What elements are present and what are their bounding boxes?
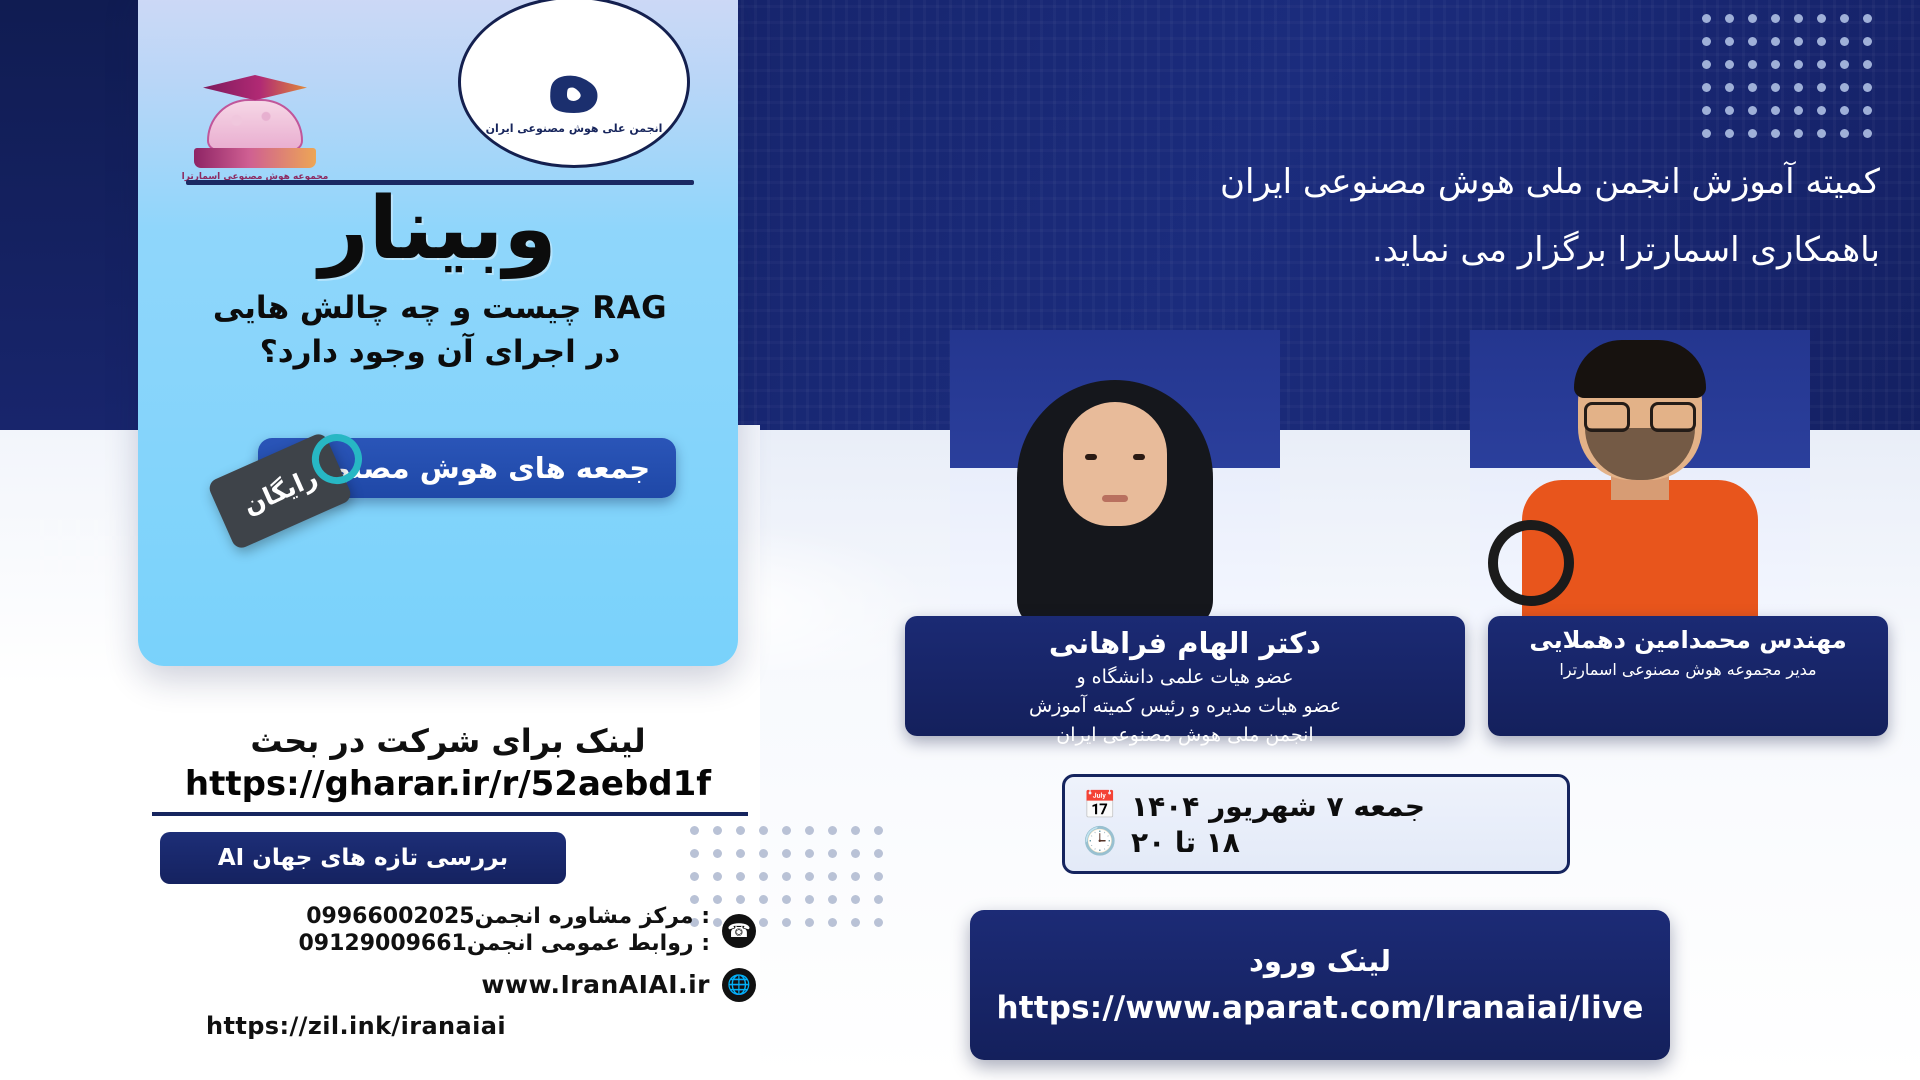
event-date: جمعه ۷ شهریور ۱۴۰۴: [1131, 790, 1425, 823]
globe-icon: 🌐: [722, 968, 756, 1002]
speaker-face-man: [1470, 330, 1810, 630]
contact-divider: [152, 812, 748, 816]
association-logo-caption: انجمن علی هوش مصنوعی ایران: [486, 122, 663, 136]
speaker-photo-elham-farahani: [950, 330, 1280, 630]
entry-link-title: لینک ورود: [1249, 944, 1391, 978]
speaker-card-2: مهندس محمدامین دهملایی مدیر مجموعه هوش م…: [1488, 616, 1888, 736]
organizer-header-line-2: باهمکاری اسمارترا برگزار می نماید.: [800, 216, 1880, 284]
webinar-poster: ه انجمن علی هوش مصنوعی ایران مجموعه هوش …: [0, 0, 1920, 1080]
face-shape: [1063, 402, 1167, 526]
eye-left: [1085, 454, 1097, 460]
beard-shape: [1585, 428, 1695, 480]
discussion-link-title: لینک برای شرکت در بحث: [148, 722, 748, 760]
datetime-box: جمعه ۷ شهریور ۱۴۰۴ 📅 ۱۸ تا ۲۰ 🕒: [1062, 774, 1570, 874]
contact-phone-row: ☎ : مرکز مشاوره انجمن09966002025 : روابط…: [156, 904, 756, 958]
mouth: [1102, 495, 1128, 502]
speaker-1-role-line-3: انجمن ملی هوش مصنوعی ایران: [919, 723, 1451, 748]
clock-icon: 🕒: [1083, 825, 1117, 859]
contact-website-row: 🌐 www.IranAIAI.ir: [156, 968, 756, 1002]
logo-row: ه انجمن علی هوش مصنوعی ایران مجموعه هوش …: [138, 0, 738, 182]
brain-icon: [207, 99, 303, 151]
speaker-1-role-line-1: عضو هیات علمی دانشگاه و: [919, 665, 1451, 690]
time-row: ۱۸ تا ۲۰ 🕒: [1083, 825, 1549, 859]
date-row: جمعه ۷ شهریور ۱۴۰۴ 📅: [1083, 789, 1549, 823]
left-dark-bar: [0, 0, 138, 430]
free-price-tag: رایگان: [206, 431, 353, 551]
phone-icon: ☎: [722, 914, 756, 948]
speaker-1-name: دکتر الهام فراهانی: [919, 626, 1451, 661]
contact-zil-link[interactable]: https://zil.ink/iranaiai: [206, 1012, 756, 1040]
contact-block: ☎ : مرکز مشاوره انجمن09966002025 : روابط…: [156, 904, 756, 1040]
speaker-photo-mohammadamin-dehmolaei: [1470, 330, 1810, 630]
speaker-2-role-line-1: مدیر مجموعه هوش مصنوعی اسمارترا: [1502, 659, 1874, 680]
calendar-icon: 📅: [1083, 789, 1117, 823]
eye-right: [1133, 454, 1145, 460]
poster-topic: RAG چیست و چه چالش هایی در اجرای آن وجود…: [162, 286, 718, 374]
speaker-face-woman: [950, 330, 1280, 630]
poster-title: وبینار: [138, 186, 738, 272]
dot-grid-top-right: [1702, 14, 1872, 138]
topic-line-1: RAG چیست و چه چالش هایی: [162, 286, 718, 330]
contact-website[interactable]: www.IranAIAI.ir: [481, 970, 710, 999]
event-time: ۱۸ تا ۲۰: [1131, 826, 1240, 859]
glasses-icon: [1584, 402, 1696, 432]
topic-line-1-text: چیست و چه چالش هایی: [213, 290, 582, 326]
contact-phone-2-number[interactable]: 09129009661: [298, 931, 466, 958]
association-logo-glyph: ه: [546, 34, 603, 120]
contact-phone-line-1: : مرکز مشاوره انجمن09966002025: [298, 904, 710, 931]
association-logo: ه انجمن علی هوش مصنوعی ایران: [458, 0, 690, 168]
contact-phone-1-number[interactable]: 09966002025: [306, 904, 474, 931]
main-info-card: ه انجمن علی هوش مصنوعی ایران مجموعه هوش …: [138, 0, 738, 666]
organizer-header-line-1: کمیته آموزش انجمن ملی هوش مصنوعی ایران: [800, 148, 1880, 216]
discussion-link-block: لینک برای شرکت در بحث https://gharar.ir/…: [148, 722, 748, 804]
organizer-header: کمیته آموزش انجمن ملی هوش مصنوعی ایران ب…: [800, 148, 1880, 284]
microphone-icon: [1488, 520, 1574, 606]
speaker-card-1: دکتر الهام فراهانی عضو هیات علمی دانشگاه…: [905, 616, 1465, 736]
topic-line-2: در اجرای آن وجود دارد؟: [162, 330, 718, 374]
topic-rag-label: RAG: [592, 290, 667, 326]
news-pill: بررسی تازه های جهان AI: [160, 832, 566, 884]
discussion-link-url[interactable]: https://gharar.ir/r/52aebd1f: [148, 764, 748, 804]
contact-phone-2-label: : روابط عمومی انجمن: [467, 931, 710, 956]
speaker-1-role-line-2: عضو هیات مدیره و رئیس کمیته آموزش: [919, 694, 1451, 719]
contact-phone-1-label: : مرکز مشاوره انجمن: [475, 904, 710, 929]
contact-phone-line-2: : روابط عمومی انجمن09129009661: [298, 931, 710, 958]
entry-link-box[interactable]: لینک ورود https://www.aparat.com/Iranaia…: [970, 910, 1670, 1060]
contact-phone-lines: : مرکز مشاوره انجمن09966002025 : روابط ع…: [298, 904, 710, 958]
speaker-2-name: مهندس محمدامین دهملایی: [1502, 626, 1874, 655]
book-icon: [194, 148, 316, 168]
smartera-logo: مجموعه هوش مصنوعی اسمارترا: [180, 70, 330, 182]
entry-link-url[interactable]: https://www.aparat.com/Iranaiai/live: [996, 990, 1643, 1026]
hair-shape: [1574, 340, 1706, 398]
